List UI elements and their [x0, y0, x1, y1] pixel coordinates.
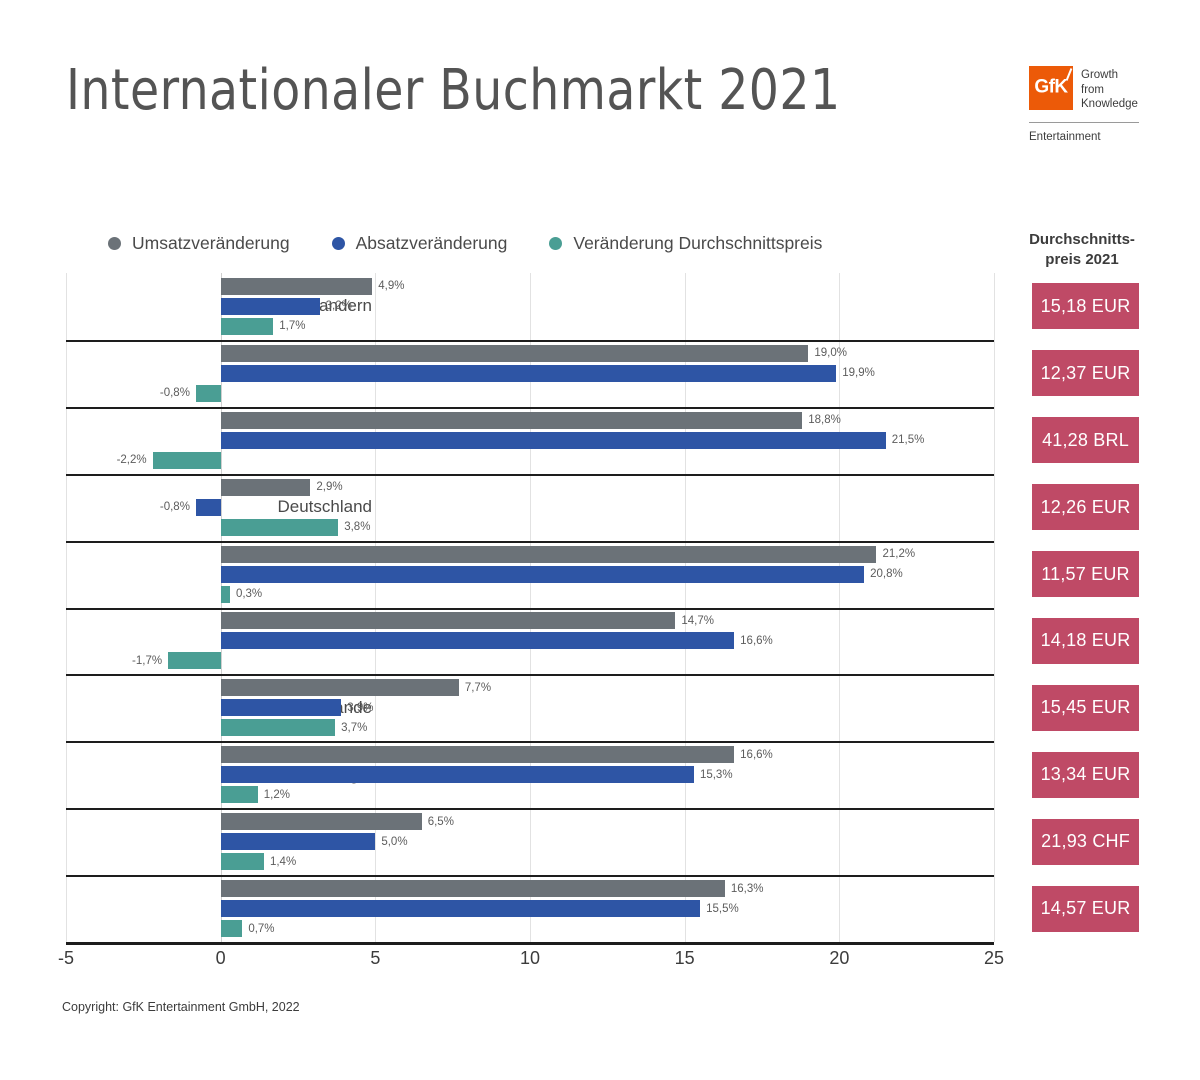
bar[interactable]	[221, 345, 809, 362]
copyright-note: Copyright: GfK Entertainment GmbH, 2022	[62, 1000, 300, 1014]
bar[interactable]	[221, 719, 335, 736]
bar[interactable]	[221, 278, 373, 295]
bar[interactable]	[221, 546, 877, 563]
tagline-line-3: Knowledge	[1081, 97, 1138, 112]
bar-value-label: -0,8%	[160, 501, 190, 513]
chart-row: Brasilien18,8%21,5%-2,2%	[66, 407, 994, 474]
price-badge: 13,34 EUR	[1032, 752, 1139, 798]
bar-track: -2,2%	[66, 452, 994, 469]
x-axis-tick-label: 25	[984, 948, 1004, 969]
bar[interactable]	[221, 900, 700, 917]
bar-track: 3,9%	[66, 699, 994, 716]
bar-value-label: 3,9%	[347, 702, 373, 714]
bar-value-label: 0,3%	[236, 588, 262, 600]
price-badge: 15,45 EUR	[1032, 685, 1139, 731]
price-header-line-2: preis 2021	[1018, 250, 1146, 270]
bar-track: 4,9%	[66, 278, 994, 295]
chart-row: Deutschland2,9%-0,8%3,8%	[66, 474, 994, 541]
x-axis-tick-label: 20	[829, 948, 849, 969]
bar[interactable]	[221, 586, 230, 603]
bar-value-label: 20,8%	[870, 568, 903, 580]
bar-track: 3,8%	[66, 519, 994, 536]
bar[interactable]	[221, 746, 734, 763]
bar-track: 21,2%	[66, 546, 994, 563]
price-badge-column: 15,18 EUR12,37 EUR41,28 BRL12,26 EUR11,5…	[1032, 273, 1139, 942]
bar-track: 18,8%	[66, 412, 994, 429]
bar[interactable]	[221, 813, 422, 830]
gfk-logo-text: GfK	[1029, 77, 1073, 99]
bar-value-label: 16,3%	[731, 883, 764, 895]
legend-item-label: Absatzveränderung	[356, 233, 508, 254]
bar-track: 5,0%	[66, 833, 994, 850]
bar[interactable]	[221, 298, 320, 315]
bar-value-label: 7,7%	[465, 682, 491, 694]
bar-track: 19,0%	[66, 345, 994, 362]
bar-value-label: 15,5%	[706, 903, 739, 915]
bar-value-label: 3,2%	[326, 300, 352, 312]
price-badge: 14,18 EUR	[1032, 618, 1139, 664]
price-badge: 41,28 BRL	[1032, 417, 1139, 463]
x-axis-tick-label: -5	[58, 948, 74, 969]
x-axis-ticks: -50510152025	[66, 948, 994, 978]
row-separator	[66, 541, 994, 543]
x-axis-line	[66, 942, 994, 945]
chart-row: Portugal16,6%15,3%1,2%	[66, 741, 994, 808]
chart-row: Niederlande7,7%3,9%3,7%	[66, 674, 994, 741]
bar-track: 16,3%	[66, 880, 994, 897]
price-badge: 11,57 EUR	[1032, 551, 1139, 597]
bar-track: 2,9%	[66, 479, 994, 496]
gridline	[994, 273, 995, 942]
bar-track: -0,8%	[66, 499, 994, 516]
bar[interactable]	[221, 365, 837, 382]
bar[interactable]	[221, 519, 339, 536]
bar-track: 1,4%	[66, 853, 994, 870]
bar[interactable]	[221, 412, 803, 429]
bar-track: 15,3%	[66, 766, 994, 783]
gfk-logo: GfK Growth from Knowledge Entertainment	[1029, 66, 1169, 143]
chart-row: Spanien16,3%15,5%0,7%	[66, 875, 994, 942]
bar[interactable]	[221, 880, 725, 897]
x-axis-tick-label: 5	[370, 948, 380, 969]
bar[interactable]	[168, 652, 221, 669]
bar-track: 6,5%	[66, 813, 994, 830]
x-axis-tick-label: 0	[216, 948, 226, 969]
page-title: Internationaler Buchmarkt 2021	[66, 58, 841, 123]
chart-plot-area: Belgien - Flandern4,9%3,2%1,7%Belgien - …	[66, 273, 994, 942]
bar-track: 0,3%	[66, 586, 994, 603]
bar-value-label: 1,2%	[264, 789, 290, 801]
bar-value-label: -0,8%	[160, 387, 190, 399]
bar-value-label: 1,4%	[270, 856, 296, 868]
legend-item-label: Umsatzveränderung	[132, 233, 290, 254]
bar-value-label: 21,5%	[892, 434, 925, 446]
bar-track: -1,7%	[66, 652, 994, 669]
price-badge: 12,37 EUR	[1032, 350, 1139, 396]
page-header: Internationaler Buchmarkt 2021 GfK Growt…	[0, 0, 1200, 190]
bar-value-label: 16,6%	[740, 749, 773, 761]
bar[interactable]	[221, 853, 264, 870]
bar-value-label: 2,9%	[316, 481, 342, 493]
bar[interactable]	[196, 499, 221, 516]
legend-dot-icon	[549, 237, 562, 250]
bar[interactable]	[221, 786, 258, 803]
bar-value-label: 16,6%	[740, 635, 773, 647]
bar-track: -0,8%	[66, 385, 994, 402]
legend-dot-icon	[332, 237, 345, 250]
legend-item[interactable]: Absatzveränderung	[332, 233, 508, 254]
price-badge: 21,93 CHF	[1032, 819, 1139, 865]
bar-value-label: 18,8%	[808, 414, 841, 426]
gfk-logo-tagline: Growth from Knowledge	[1081, 66, 1138, 112]
bar-track: 1,7%	[66, 318, 994, 335]
bar-value-label: 6,5%	[428, 816, 454, 828]
bar-value-label: 14,7%	[681, 615, 714, 627]
price-header-line-1: Durchschnitts-	[1018, 230, 1146, 250]
bar-value-label: 0,7%	[248, 923, 274, 935]
row-separator	[66, 808, 994, 810]
row-separator	[66, 407, 994, 409]
bar-track: 14,7%	[66, 612, 994, 629]
bar[interactable]	[221, 479, 311, 496]
bar-value-label: 19,0%	[814, 347, 847, 359]
bar[interactable]	[196, 385, 221, 402]
bar[interactable]	[153, 452, 221, 469]
bar-value-label: 1,7%	[279, 320, 305, 332]
chart-row: Italien14,7%16,6%-1,7%	[66, 608, 994, 675]
bar[interactable]	[221, 920, 243, 937]
bar[interactable]	[221, 632, 734, 649]
bar-value-label: 19,9%	[842, 367, 875, 379]
bar-track: 16,6%	[66, 632, 994, 649]
chart-legend: UmsatzveränderungAbsatzveränderungVeränd…	[108, 233, 822, 254]
row-separator	[66, 608, 994, 610]
price-badge: 15,18 EUR	[1032, 283, 1139, 329]
legend-item[interactable]: Veränderung Durchschnittspreis	[549, 233, 822, 254]
bar-value-label: 5,0%	[381, 836, 407, 848]
bar[interactable]	[221, 699, 342, 716]
bar[interactable]	[221, 612, 676, 629]
legend-dot-icon	[108, 237, 121, 250]
legend-item-label: Veränderung Durchschnittspreis	[573, 233, 822, 254]
logo-divider	[1029, 122, 1139, 123]
price-column-header: Durchschnitts- preis 2021	[1018, 230, 1146, 270]
tagline-line-2: from	[1081, 83, 1138, 98]
price-badge: 14,57 EUR	[1032, 886, 1139, 932]
row-separator	[66, 741, 994, 743]
bar-value-label: 3,8%	[344, 521, 370, 533]
bar[interactable]	[221, 679, 459, 696]
bar-track: 0,7%	[66, 920, 994, 937]
legend-item[interactable]: Umsatzveränderung	[108, 233, 290, 254]
row-separator	[66, 340, 994, 342]
bar-value-label: 15,3%	[700, 769, 733, 781]
bar-value-label: -1,7%	[132, 655, 162, 667]
bar-value-label: 21,2%	[882, 548, 915, 560]
bar-track: 15,5%	[66, 900, 994, 917]
x-axis-tick-label: 15	[675, 948, 695, 969]
bar-value-label: 4,9%	[378, 280, 404, 292]
bar[interactable]	[221, 833, 376, 850]
bar[interactable]	[221, 432, 886, 449]
bar-track: 21,5%	[66, 432, 994, 449]
row-separator	[66, 875, 994, 877]
bar-track: 20,8%	[66, 566, 994, 583]
gfk-logo-mark: GfK	[1029, 66, 1073, 110]
bar-value-label: -2,2%	[117, 454, 147, 466]
x-axis-tick-label: 10	[520, 948, 540, 969]
bar-track: 19,9%	[66, 365, 994, 382]
chart-row: Frankreich21,2%20,8%0,3%	[66, 541, 994, 608]
bar-value-label: 3,7%	[341, 722, 367, 734]
bar-track: 16,6%	[66, 746, 994, 763]
bar-track: 1,2%	[66, 786, 994, 803]
chart-row: Belgien - Wallonien19,0%19,9%-0,8%	[66, 340, 994, 407]
tagline-line-1: Growth	[1081, 68, 1138, 83]
chart-row: Belgien - Flandern4,9%3,2%1,7%	[66, 273, 994, 340]
chart-row: Schweiz6,5%5,0%1,4%	[66, 808, 994, 875]
bar-track: 7,7%	[66, 679, 994, 696]
bar[interactable]	[221, 766, 694, 783]
price-badge: 12,26 EUR	[1032, 484, 1139, 530]
bar-track: 3,7%	[66, 719, 994, 736]
row-separator	[66, 474, 994, 476]
bar-track: 3,2%	[66, 298, 994, 315]
bar[interactable]	[221, 566, 864, 583]
logo-sub-label: Entertainment	[1029, 131, 1169, 143]
row-separator	[66, 674, 994, 676]
bar[interactable]	[221, 318, 274, 335]
